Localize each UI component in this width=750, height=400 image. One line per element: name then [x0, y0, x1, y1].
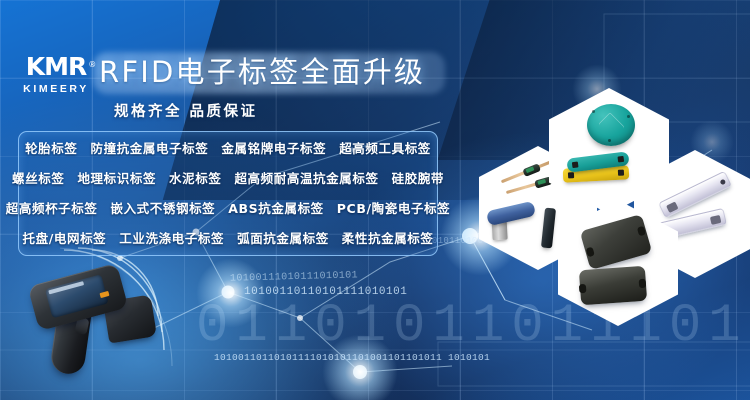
list-item[interactable]: 嵌入式不锈钢标签	[110, 198, 215, 217]
list-item[interactable]: 超高频耐高温抗金属标签	[234, 168, 378, 187]
dark-abs-tag-lower	[579, 266, 647, 306]
list-item[interactable]: 超高频杯子标签	[6, 198, 98, 217]
logo-mark-text: KMR	[26, 52, 87, 81]
binary-large-text: 011010110111010	[196, 296, 750, 357]
rfid-promo-banner: 011010110111010 10100111010111010101 101…	[0, 0, 750, 400]
list-item[interactable]: 地理标识标签	[77, 168, 156, 187]
bar-anti-metal-tag	[541, 208, 556, 249]
light-flare-c	[322, 334, 398, 400]
reader-screen	[45, 274, 109, 318]
logo-mark-icon: KMR ®	[26, 52, 87, 82]
list-row: 托盘/电网标签 工业洗涤电子标签 弧面抗金属标签 柔性抗金属标签	[19, 222, 437, 252]
list-item[interactable]: ABS抗金属标签	[228, 198, 324, 217]
light-flare-b	[196, 258, 266, 328]
list-item[interactable]: PCB/陶瓷电子标签	[337, 198, 450, 217]
dark-abs-tag-upper	[580, 214, 653, 270]
round-disc-tag	[587, 104, 635, 146]
brand-logo[interactable]: KMR ® KIMEERY	[14, 52, 98, 108]
page-subtitle: 规格齐全 品质保证	[114, 100, 258, 121]
list-item[interactable]: 托盘/电网标签	[23, 228, 107, 247]
list-item[interactable]: 工业洗涤电子标签	[119, 228, 224, 247]
screw-tag-head	[486, 201, 536, 226]
list-row: 超高频杯子标签 嵌入式不锈钢标签 ABS抗金属标签 PCB/陶瓷电子标签	[19, 192, 437, 222]
page-title: RFID电子标签全面升级	[99, 48, 425, 96]
list-item[interactable]: 轮胎标签	[25, 138, 77, 157]
product-category-list: 轮胎标签 防撞抗金属电子标签 金属铭牌电子标签 超高频工具标签 螺丝标签 地理标…	[18, 131, 438, 256]
binary-mid-text-upper: 10100111010111010101	[230, 270, 358, 284]
headline-wrap: RFID电子标签全面升级	[99, 48, 425, 96]
logo-brand-name: KIMEERY	[14, 83, 98, 95]
list-item[interactable]: 水泥标签	[169, 168, 221, 187]
handheld-rfid-reader[interactable]	[24, 268, 156, 388]
list-item[interactable]: 螺丝标签	[12, 168, 64, 187]
list-item[interactable]: 柔性抗金属标签	[342, 228, 434, 247]
binary-low-text: 10100110110101111010101101001101101011 1…	[214, 352, 490, 363]
list-item[interactable]: 硅胶腕带	[392, 168, 444, 187]
list-row: 螺丝标签 地理标识标签 水泥标签 超高频耐高温抗金属标签 硅胶腕带	[19, 162, 437, 192]
list-item[interactable]: 金属铭牌电子标签	[221, 138, 326, 157]
list-row: 轮胎标签 防撞抗金属电子标签 金属铭牌电子标签 超高频工具标签	[19, 132, 437, 162]
list-item[interactable]: 防撞抗金属电子标签	[90, 138, 208, 157]
list-item[interactable]: 弧面抗金属标签	[237, 228, 329, 247]
binary-mid-text: 10100110110101111010101	[244, 286, 407, 298]
list-item[interactable]: 超高频工具标签	[339, 138, 431, 157]
